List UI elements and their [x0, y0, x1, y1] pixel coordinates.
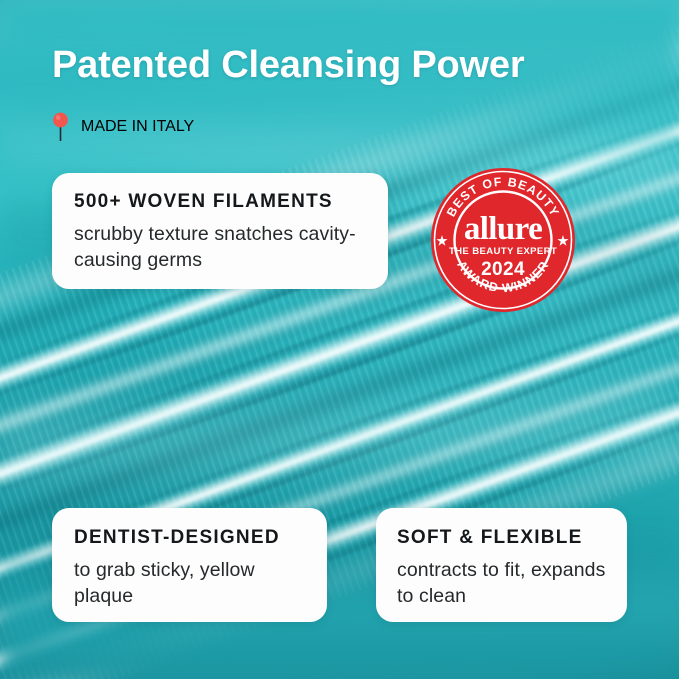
callout-title: SOFT & FLEXIBLE [397, 527, 611, 549]
badge-year: 2024 [481, 259, 525, 280]
badge-star-left-icon: ★ [436, 234, 448, 248]
product-feature-poster: Patented Cleansing Power MADE IN ITALY 5… [0, 0, 679, 679]
made-in-italy-label: MADE IN ITALY [81, 118, 194, 136]
callout-title: 500+ WOVEN FILAMENTS [74, 191, 368, 213]
callout-card-flexible: SOFT & FLEXIBLE contracts to fit, expand… [376, 508, 627, 622]
badge-brand-name: allure [464, 211, 542, 247]
award-badge-graphic: BEST OF BEAUTY AWARD WINNER ★ ★ allure T… [430, 167, 576, 313]
page-title: Patented Cleansing Power [52, 44, 524, 87]
callout-body: contracts to fit, expands to clean [397, 558, 611, 610]
callout-title: DENTIST-DESIGNED [74, 527, 309, 549]
made-in-italy-badge: MADE IN ITALY [52, 112, 194, 142]
callout-card-filaments: 500+ WOVEN FILAMENTS scrubby texture sna… [52, 173, 388, 289]
callout-body: scrubby texture snatches cavity-causing … [74, 222, 368, 274]
poster-content: Patented Cleansing Power MADE IN ITALY 5… [0, 0, 679, 679]
map-pin-icon [52, 112, 69, 142]
callout-card-dentist: DENTIST-DESIGNED to grab sticky, yellow … [52, 508, 327, 622]
allure-best-of-beauty-award-badge: BEST OF BEAUTY AWARD WINNER ★ ★ allure T… [430, 167, 576, 313]
badge-tagline: THE BEAUTY EXPERT [449, 246, 557, 257]
callout-body: to grab sticky, yellow plaque [74, 558, 309, 610]
badge-star-right-icon: ★ [557, 234, 569, 248]
